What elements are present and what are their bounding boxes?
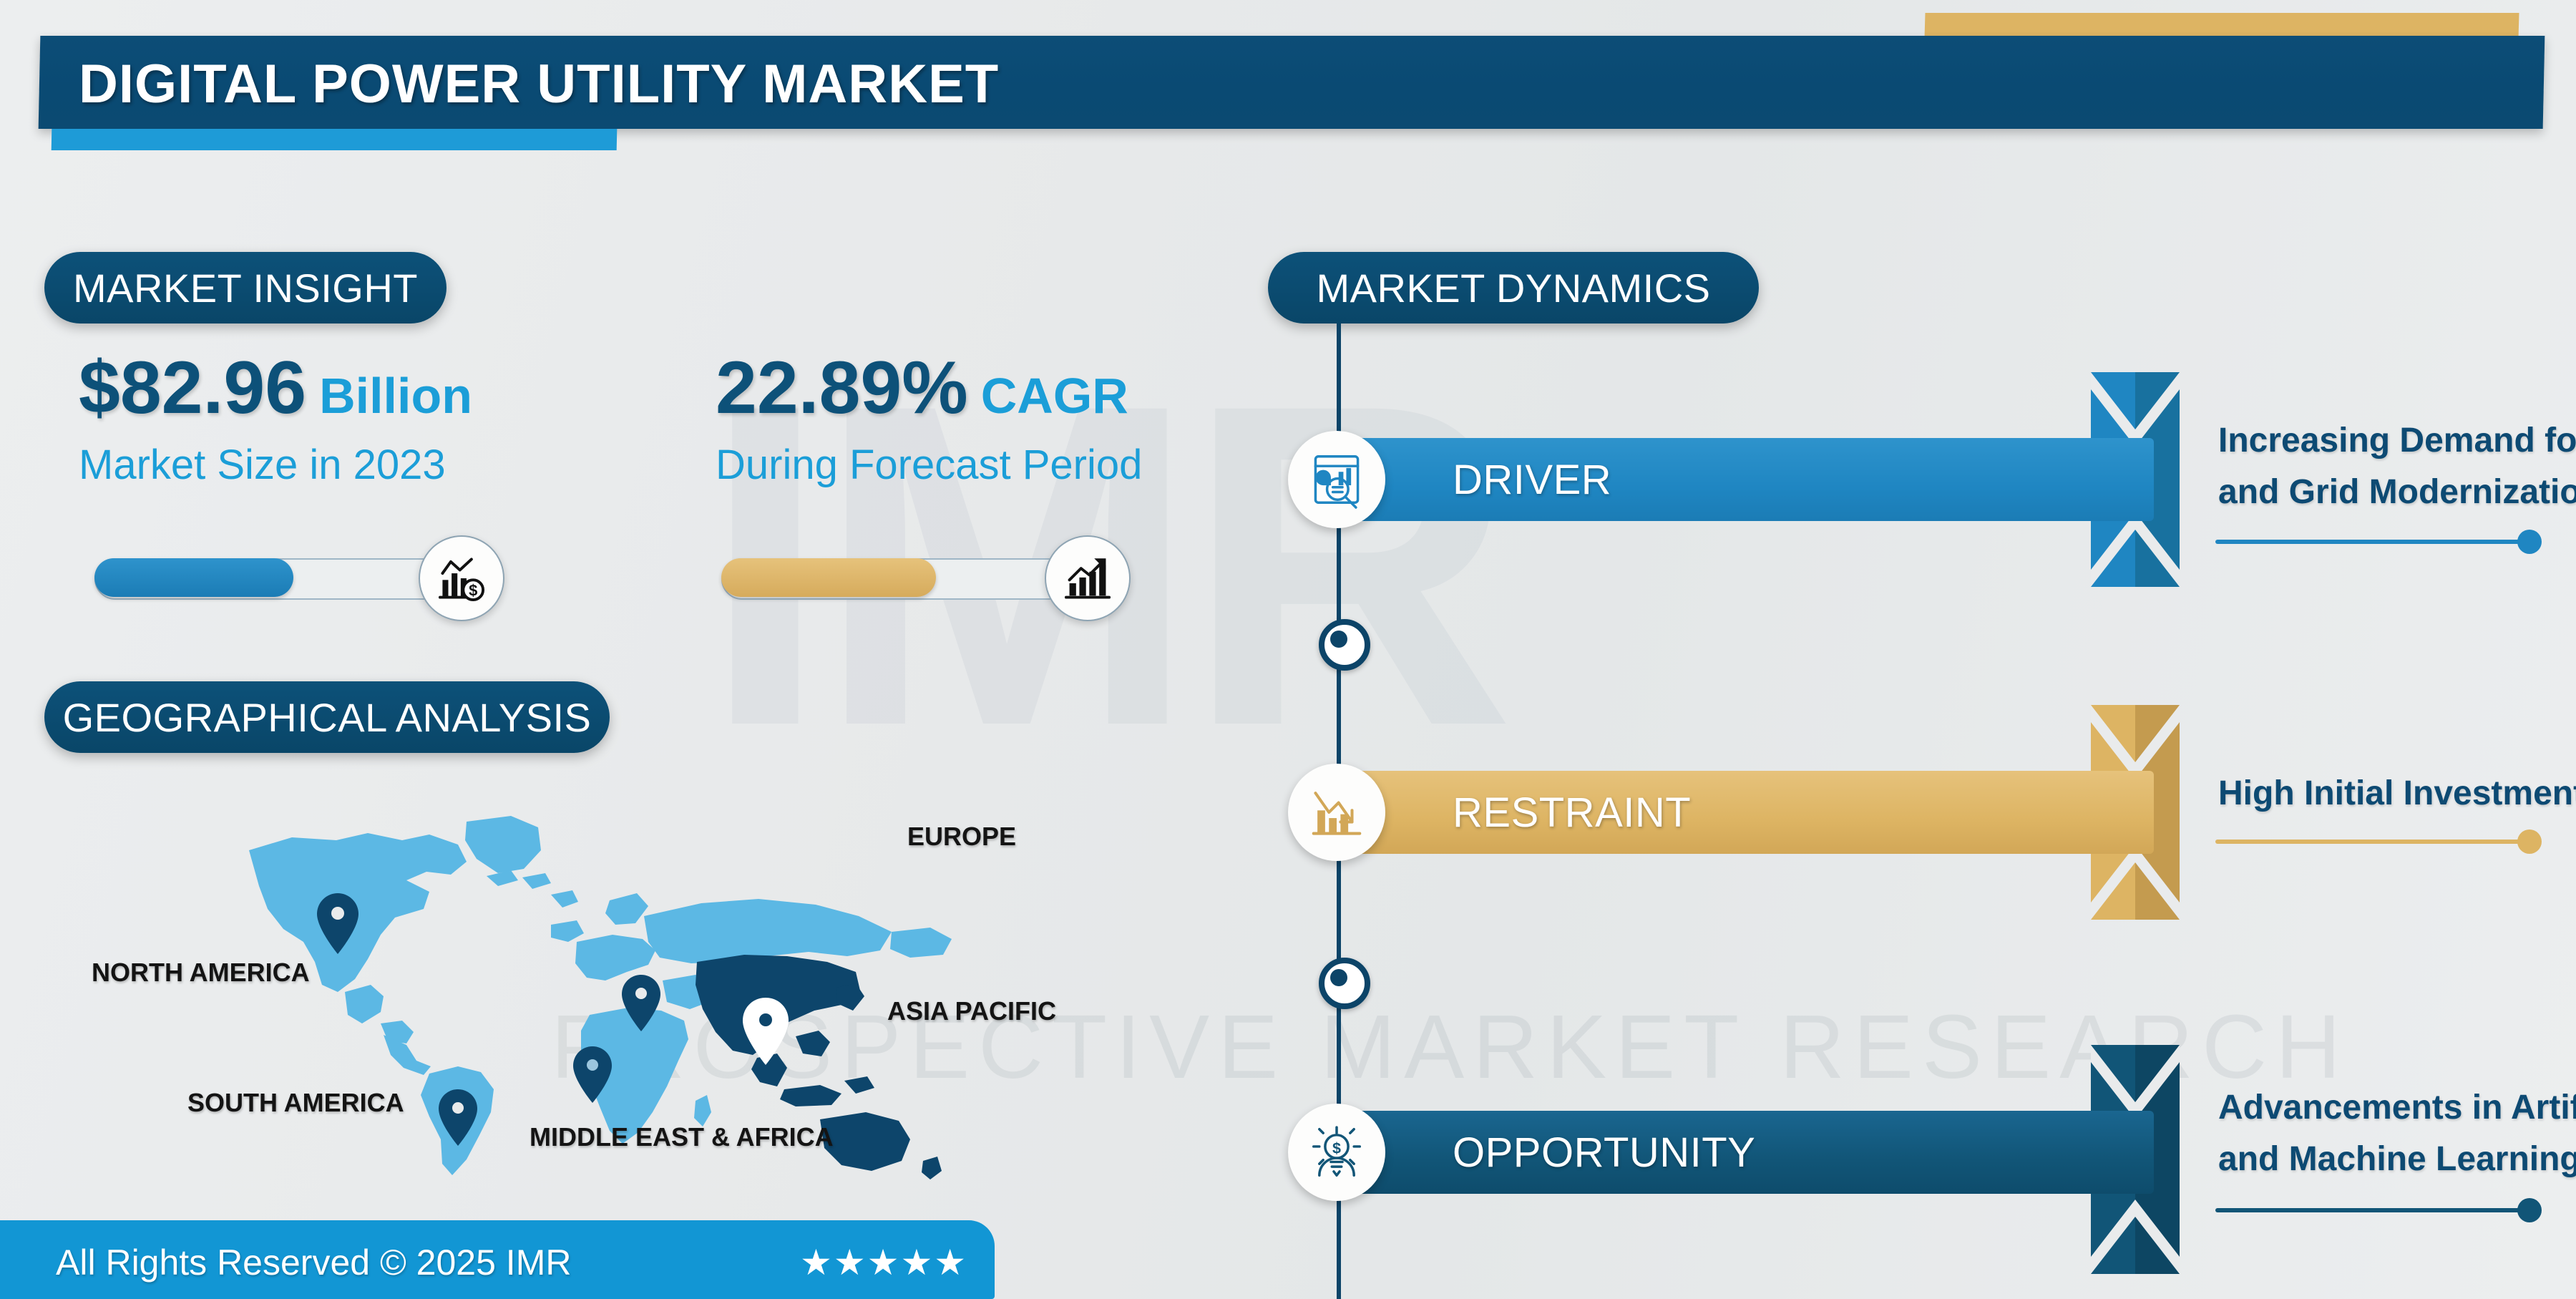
growth-arrow-chart-icon [1045,535,1131,621]
market-size-unit: Billion [319,367,472,424]
dynamics-row-opportunity[interactable]: $ OPPORTUNITY Advancements in Artificial… [1288,1045,2547,1260]
map-label-asia-pacific: ASIA PACIFIC [887,996,1056,1026]
market-insight-heading: MARKET INSIGHT [44,252,447,323]
opportunity-description-line2: and Machine Learning [2218,1134,2576,1185]
restraint-description: High Initial Investment [2218,768,2576,819]
map-label-south-america: SOUTH AMERICA [187,1088,404,1118]
map-label-europe: EUROPE [907,822,1016,852]
market-size-caption: Market Size in 2023 [79,441,623,489]
footer-copyright: All Rights Reserved © 2025 IMR [56,1242,571,1283]
geographical-analysis-heading: GEOGRAPHICAL ANALYSIS [44,681,610,753]
restraint-underline [2215,840,2530,844]
rating-stars: ★★★★★ [800,1242,967,1283]
header-gold-accent [1924,13,2519,39]
cagr-progress-fill [721,558,936,597]
opportunity-label: OPPORTUNITY [1453,1111,1755,1194]
stat-market-size: $82.96Billion Market Size in 2023 [79,351,623,489]
driver-description: Increasing Demand for Smart Grids and Gr… [2218,415,2576,518]
timeline-node-1 [1319,619,1370,671]
declining-bar-chart-icon [1288,764,1385,861]
opportunity-underline-dot [2517,1198,2542,1222]
driver-description-line1: Increasing Demand for Smart Grids [2218,415,2576,467]
restraint-description-line1: High Initial Investment [2218,768,2576,819]
driver-description-line2: and Grid Modernization [2218,467,2576,518]
stat-cagr: 22.89%CAGR During Forecast Period [716,351,1259,489]
dynamics-row-restraint[interactable]: RESTRAINT High Initial Investment [1288,705,2547,920]
driver-underline-dot [2517,530,2542,554]
cagr-caption: During Forecast Period [716,441,1259,489]
cagr-unit: CAGR [981,367,1128,424]
dynamics-row-driver[interactable]: DRIVER Increasing Demand for Smart Grids… [1288,372,2547,587]
report-magnifier-icon [1288,431,1385,528]
market-size-progress-fill [94,558,293,597]
map-pin-asia-pacific [743,998,789,1065]
cagr-value: 22.89% [716,351,968,425]
market-size-value: $82.96 [79,351,306,425]
restraint-underline-dot [2517,829,2542,854]
svg-text:$: $ [469,581,477,599]
driver-label: DRIVER [1453,438,1611,521]
timeline-node-2 [1319,958,1370,1009]
header-underline-accent [52,129,618,150]
opportunity-underline [2215,1208,2530,1212]
market-dynamics-heading: MARKET DYNAMICS [1268,252,1759,323]
svg-text:$: $ [1332,1139,1341,1157]
opportunity-description-line1: Advancements in Artificial Intelligence [2218,1082,2576,1134]
lightbulb-dollar-icon: $ [1288,1104,1385,1201]
restraint-label: RESTRAINT [1453,771,1691,854]
driver-underline [2215,540,2530,544]
page-title: DIGITAL POWER UTILITY MARKET [79,56,1796,113]
opportunity-description: Advancements in Artificial Intelligence … [2218,1082,2576,1185]
map-label-north-america: NORTH AMERICA [92,958,310,988]
infographic-canvas: IMR PROSPECTIVE MARKET RESEARCH DIGITAL … [0,0,2576,1299]
map-label-middle-east-africa: MIDDLE EAST & AFRICA [530,1122,834,1152]
bar-chart-dollar-icon: $ [419,535,504,621]
